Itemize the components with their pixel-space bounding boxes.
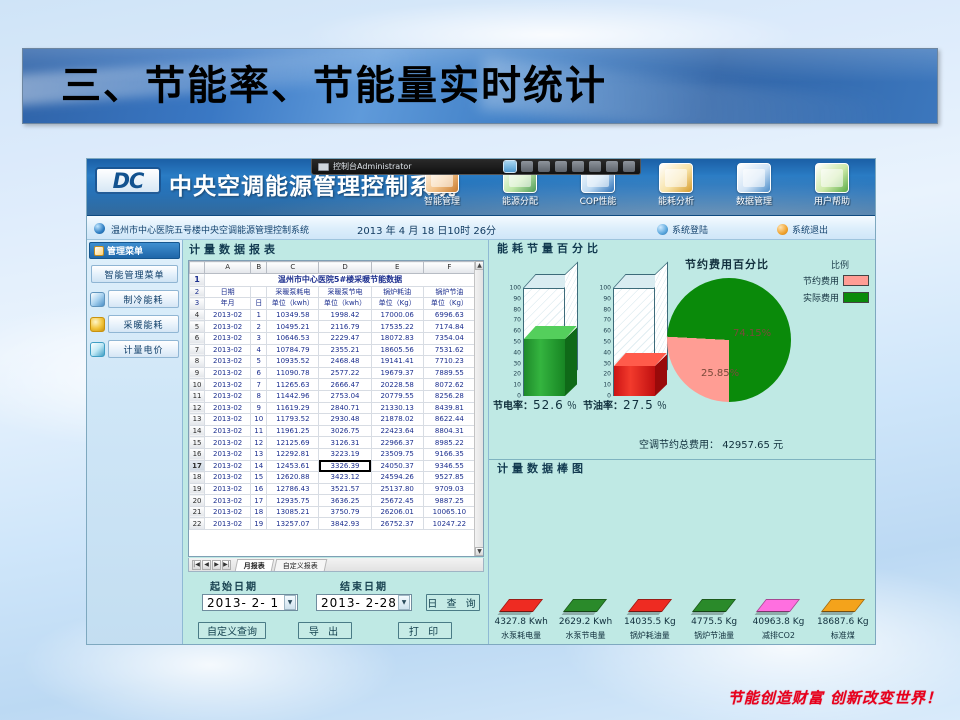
cell-day[interactable]: 4 [251,344,267,356]
axis-tick: 80 [513,306,521,313]
cell-boiler-saving[interactable]: 8985.22 [423,437,475,449]
charts-pane: 能耗节量百分比 1009080706050403020100 节电率：52.6 … [489,240,875,645]
axis-tick: 40 [513,349,521,356]
cell-pump-saving[interactable]: 2753.04 [319,390,371,402]
bar-value: 40963.8 Kg [746,617,810,627]
row-number[interactable]: 19 [190,483,205,495]
bar-value: 4327.8 Kwh [489,617,553,627]
cell-boiler-usage[interactable]: 20779.55 [371,390,423,402]
export-button[interactable]: 导 出 [298,622,352,639]
oil-saving-gauge: 1009080706050403020100 节油率：27.5 ％ [589,270,675,410]
table-row[interactable]: 122013-02911619.292840.7121330.138439.81 [190,402,476,414]
row-number[interactable]: 22 [190,518,205,530]
pie-chart-title: 节约费用百分比 [685,256,769,272]
row-number[interactable]: 18 [190,472,205,484]
cell-boiler-usage[interactable]: 22966.37 [371,437,423,449]
table-row[interactable]: 62013-02310646.532229.4718072.837354.04 [190,332,476,344]
cell-boiler-usage[interactable]: 19679.37 [371,367,423,379]
cell-boiler-saving[interactable]: 7354.04 [423,332,475,344]
move-icon[interactable] [572,161,584,172]
toolbar-label: 用户帮助 [814,197,850,207]
sidebar: 管理菜单 智能管理菜单 制冷能耗 采暖能耗 计量电价 [87,240,183,645]
cell-boiler-saving[interactable]: 7531.62 [423,344,475,356]
cell-pump-usage[interactable]: 11442.96 [267,390,319,402]
cell-pump-usage[interactable]: 12453.61 [267,460,319,472]
energy-panel-title: 能耗节量百分比 [489,240,875,256]
table-row[interactable]: 172013-021412453.613326.3924050.379346.5… [190,460,476,472]
cell-date[interactable]: 2013-02 [205,460,251,472]
cell-day[interactable]: 11 [251,425,267,437]
pointer-icon[interactable] [555,161,567,172]
cell-pump-usage[interactable]: 11961.25 [267,425,319,437]
console-icon-group[interactable] [504,161,640,172]
cell-day[interactable]: 17 [251,495,267,507]
end-date-label: 结束日期 [340,578,388,593]
table-row[interactable]: 92013-02611090.782577.2219679.377889.55 [190,367,476,379]
header-unit-kg-1: 单位（Kg） [371,298,423,310]
custom-query-button[interactable]: 自定义查询 [198,622,266,639]
total-savings-label: 空调节约总费用： [639,440,719,451]
cell-day[interactable]: 6 [251,367,267,379]
header-row-1: 2 日期 采暖泵耗电 采暖泵节电 锅炉耗油 锅炉节油 [190,286,476,298]
cell-boiler-saving[interactable]: 6996.63 [423,309,475,321]
row-number[interactable]: 16 [190,448,205,460]
cell-pump-saving[interactable]: 3842.93 [319,518,371,530]
table-row[interactable]: 52013-02210495.212116.7917535.227174.84 [190,321,476,333]
table-row[interactable]: 102013-02711265.632666.4720228.588072.62 [190,379,476,391]
cell-pump-saving[interactable]: 2468.48 [319,356,371,368]
cell-boiler-saving[interactable]: 7174.84 [423,321,475,333]
gauge-axis: 1009080706050403020100 [589,276,611,396]
sheet-corner[interactable] [190,262,205,274]
cell-boiler-usage[interactable]: 18072.83 [371,332,423,344]
cell-date[interactable]: 2013-02 [205,332,251,344]
cell-date[interactable]: 2013-02 [205,309,251,321]
sidebar-item-metering-price[interactable]: 计量电价 [108,340,179,358]
cell-day[interactable]: 2 [251,321,267,333]
cell-pump-saving[interactable]: 2116.79 [319,321,371,333]
prev-sheet-icon[interactable]: ◀ [202,560,211,570]
end-date-value: 2013- 2-28 [317,596,398,610]
cell-boiler-usage[interactable]: 22423.64 [371,425,423,437]
header-pump-saving: 采暖泵节电 [319,286,371,298]
axis-tick: 20 [513,371,521,378]
monitor-icon[interactable] [504,161,516,172]
sheet-nav-arrows[interactable]: |◀ ◀ ▶ ▶| [189,560,234,570]
table-row[interactable]: 202013-021712935.753636.2525672.459887.2… [190,495,476,507]
sidebar-header: 管理菜单 [89,242,180,259]
row-number[interactable]: 2 [190,286,205,298]
gauge-value: 27.5 [623,398,654,412]
folder-globe-icon [737,163,771,193]
cell-date[interactable]: 2013-02 [205,506,251,518]
cell-pump-saving[interactable]: 3521.57 [319,483,371,495]
sheet-title-row: 1 温州市中心医院5#楼采暖节能数据 [190,273,476,286]
system-login-link[interactable]: 系统登陆 [657,223,708,236]
table-row[interactable]: 82013-02510935.522468.4819141.417710.23 [190,356,476,368]
sidebar-row-cooling[interactable]: 制冷能耗 [90,290,179,308]
bar-slab [563,599,607,612]
page-title: 三、节能率、节能量实时统计 [23,49,937,123]
bar-item: 40963.8 Kg减排CO2 [746,599,810,641]
pie-slice-label-saving: 25.85% [701,368,739,379]
cell-pump-usage[interactable]: 11793.52 [267,414,319,426]
monitor-icon [318,163,329,171]
cell-date[interactable]: 2013-02 [205,402,251,414]
cell-pump-saving[interactable]: 3326.39 [319,460,371,472]
cell-date[interactable]: 2013-02 [205,344,251,356]
cell-pump-saving[interactable]: 3223.19 [319,448,371,460]
bar-slab [499,599,543,612]
cell-day[interactable]: 3 [251,332,267,344]
header-date: 日期 [205,286,251,298]
cell-day[interactable]: 15 [251,472,267,484]
cell-pump-usage[interactable]: 11619.29 [267,402,319,414]
cell-day[interactable]: 1 [251,309,267,321]
sheet-tab-monthly[interactable]: 月报表 [235,559,275,571]
cell-boiler-usage[interactable]: 23509.75 [371,448,423,460]
bar-item: 4327.8 Kwh水泵耗电量 [489,599,553,641]
cell-date[interactable]: 2013-02 [205,390,251,402]
cell-pump-usage[interactable]: 13085.21 [267,506,319,518]
cell-day[interactable]: 8 [251,390,267,402]
footer-slogan: 节能创造财富 创新改变世界！ [728,687,942,708]
sheet-tab-strip[interactable]: |◀ ◀ ▶ ▶| 月报表 自定义报表 [188,558,484,572]
toolbar-item-user-help[interactable]: 用户帮助 [793,161,871,207]
row-number[interactable]: 12 [190,402,205,414]
row-number[interactable]: 21 [190,506,205,518]
toolbar-item-data-management[interactable]: 数据管理 [715,161,793,207]
row-number[interactable]: 9 [190,367,205,379]
row-number[interactable]: 11 [190,390,205,402]
cell-boiler-usage[interactable]: 26206.01 [371,506,423,518]
status-bar: 温州市中心医院五号楼中央空调能源管理控制系统 2013 年 4 月 18 日10… [87,216,875,240]
cell-pump-saving[interactable]: 3636.25 [319,495,371,507]
console-title: 控制台Administrator [333,161,412,172]
cell-boiler-saving[interactable]: 8622.44 [423,414,475,426]
bar-panel-title: 计量数据棒图 [489,460,875,476]
end-date-input[interactable]: 2013- 2-28 ▼ [316,594,412,611]
cell-boiler-saving[interactable]: 9346.55 [423,460,475,472]
axis-tick: 80 [603,306,611,313]
cell-date[interactable]: 2013-02 [205,495,251,507]
toolbar-label: COP性能 [580,197,617,207]
cell-boiler-usage[interactable]: 17000.06 [371,309,423,321]
scroll-up-icon[interactable]: ▲ [475,261,484,270]
cell-pump-usage[interactable]: 12935.75 [267,495,319,507]
cell-pump-saving[interactable]: 1998.42 [319,309,371,321]
savings-pie-chart [667,278,791,402]
cell-pump-usage[interactable]: 10646.53 [267,332,319,344]
cell-day[interactable]: 18 [251,506,267,518]
cell-boiler-saving[interactable]: 9527.85 [423,472,475,484]
metering-bar-panel: 计量数据棒图 4327.8 Kwh水泵耗电量2629.2 Kwh水泵节电量140… [489,460,875,645]
cell-boiler-usage[interactable]: 18605.56 [371,344,423,356]
header-unit-kwh-1: 单位（kwh） [267,298,319,310]
day-query-button[interactable]: 日 查 询 [426,594,480,611]
sidebar-row-heating[interactable]: 采暖能耗 [90,315,179,333]
total-savings-unit: 元 [773,440,783,451]
chevron-down-icon[interactable]: ▼ [398,595,410,610]
cell-day[interactable]: 5 [251,356,267,368]
chevron-down-icon[interactable]: ▼ [284,595,296,610]
cell-boiler-saving[interactable]: 9887.25 [423,495,475,507]
axis-tick: 60 [603,328,611,335]
row-number[interactable]: 13 [190,414,205,426]
start-date-input[interactable]: 2013- 2- 1 ▼ [202,594,298,611]
row-number[interactable]: 15 [190,437,205,449]
cell-date[interactable]: 2013-02 [205,425,251,437]
bar-item: 4775.5 Kg锅炉节油量 [682,599,746,641]
cell-pump-usage[interactable]: 11090.78 [267,367,319,379]
bar-item-list: 4327.8 Kwh水泵耗电量2629.2 Kwh水泵节电量14035.5 Kg… [489,599,875,641]
legend-swatch [843,275,869,286]
bar-value: 4775.5 Kg [682,617,746,627]
remote-console-toolbar[interactable]: 控制台Administrator [311,159,641,175]
row-number[interactable]: 3 [190,298,205,310]
axis-tick: 90 [603,295,611,302]
row-number[interactable]: 1 [190,273,205,286]
first-sheet-icon[interactable]: |◀ [192,560,201,570]
cell-pump-saving[interactable]: 2577.22 [319,367,371,379]
cell-boiler-saving[interactable]: 9166.35 [423,448,475,460]
col-letter-f[interactable]: F [423,262,475,274]
book-icon [659,163,693,193]
total-savings-value: 42957.65 [722,440,770,451]
axis-tick: 100 [510,285,521,292]
gauge-axis: 1009080706050403020100 [499,276,521,396]
cell-boiler-saving[interactable]: 7710.23 [423,356,475,368]
cell-date[interactable]: 2013-02 [205,321,251,333]
header-unit-kg-2: 单位（Kg） [423,298,475,310]
table-row[interactable]: 72013-02410784.792355.2118605.567531.62 [190,344,476,356]
cell-pump-usage[interactable]: 12786.43 [267,483,319,495]
app-logo: DC [95,167,161,194]
cell-boiler-usage[interactable]: 21330.13 [371,402,423,414]
table-row[interactable]: 42013-02110349.581998.4217000.066996.63 [190,309,476,321]
axis-tick: 70 [603,317,611,324]
toolbar-label: 智能管理 [424,197,460,207]
table-row[interactable]: 162013-021312292.813223.1923509.759166.3… [190,448,476,460]
sidebar-row-price[interactable]: 计量电价 [90,340,179,358]
legend-item-saving: 节约费用 [803,274,869,287]
cell-pump-saving[interactable]: 3750.79 [319,506,371,518]
cell-day[interactable]: 19 [251,518,267,530]
bar-value: 18687.6 Kg [811,617,875,627]
axis-tick: 50 [513,339,521,346]
cell-boiler-usage[interactable]: 20228.58 [371,379,423,391]
hand-icon[interactable] [589,161,601,172]
toolbar-label: 数据管理 [736,197,772,207]
report-table: A B C D E F 1 温州市中心医院5#楼采暖节能数据 [189,261,476,530]
cell-pump-usage[interactable]: 10935.52 [267,356,319,368]
cell-day[interactable]: 13 [251,448,267,460]
gauge-unit: ％ [567,401,577,412]
col-letter-e[interactable]: E [371,262,423,274]
bar-slab [756,599,800,612]
cell-day[interactable]: 14 [251,460,267,472]
gauge-fill [614,366,655,396]
cooling-icon [90,292,105,307]
system-logout-link[interactable]: 系统退出 [777,223,828,236]
cell-pump-saving[interactable]: 3423.12 [319,472,371,484]
cell-pump-saving[interactable]: 3026.75 [319,425,371,437]
cell-boiler-saving[interactable]: 9709.03 [423,483,475,495]
cell-date[interactable]: 2013-02 [205,448,251,460]
cell-boiler-usage[interactable]: 26752.37 [371,518,423,530]
table-row[interactable]: 142013-021111961.253026.7522423.648804.3… [190,425,476,437]
cell-date[interactable]: 2013-02 [205,472,251,484]
header-boiler-saving: 锅炉节油 [423,286,475,298]
axis-tick: 50 [603,339,611,346]
cell-day[interactable]: 16 [251,483,267,495]
table-row[interactable]: 192013-021612786.433521.5725137.809709.0… [190,483,476,495]
axis-tick: 40 [603,349,611,356]
cell-date[interactable]: 2013-02 [205,437,251,449]
cell-boiler-saving[interactable]: 8256.28 [423,390,475,402]
cell-pump-usage[interactable]: 12620.88 [267,472,319,484]
cell-pump-saving[interactable]: 2930.48 [319,414,371,426]
cell-pump-saving[interactable]: 3126.31 [319,437,371,449]
cell-pump-saving[interactable]: 2355.21 [319,344,371,356]
logout-icon [777,224,788,235]
col-letter-d[interactable]: D [319,262,371,274]
bar-item: 14035.5 Kg锅炉耗油量 [618,599,682,641]
col-letter-b[interactable]: B [251,262,267,274]
gauge-caption: 节油率：27.5 ％ [583,397,693,412]
next-sheet-icon[interactable]: ▶ [212,560,221,570]
cell-pump-usage[interactable]: 10784.79 [267,344,319,356]
speaker-icon[interactable] [623,161,635,172]
cell-pump-usage[interactable]: 10349.58 [267,309,319,321]
last-sheet-icon[interactable]: ▶| [222,560,231,570]
cell-boiler-saving[interactable]: 8072.62 [423,379,475,391]
sheet-tab-label: 月报表 [244,560,265,572]
bar-label: 标准煤 [811,630,875,641]
table-row[interactable]: 212013-021813085.213750.7926206.0110065.… [190,506,476,518]
row-number[interactable]: 14 [190,425,205,437]
spreadsheet-frame[interactable]: A B C D E F 1 温州市中心医院5#楼采暖节能数据 [188,260,484,557]
cell-date[interactable]: 2013-02 [205,367,251,379]
price-icon [90,342,105,357]
row-number[interactable]: 20 [190,495,205,507]
row-number[interactable]: 4 [190,309,205,321]
table-row[interactable]: 222013-021913257.073842.9326752.3710247.… [190,518,476,530]
row-number[interactable]: 6 [190,332,205,344]
cell-boiler-saving[interactable]: 10247.22 [423,518,475,530]
toolbar-label: 能源分配 [502,197,538,207]
col-letter-a[interactable]: A [205,262,251,274]
cell-day[interactable]: 10 [251,414,267,426]
sheet-tab-custom[interactable]: 自定义报表 [274,559,328,571]
bar-label: 水泵耗电量 [489,630,553,641]
cell-pump-usage[interactable]: 12292.81 [267,448,319,460]
cell-pump-usage[interactable]: 13257.07 [267,518,319,530]
cell-boiler-saving[interactable]: 7889.55 [423,367,475,379]
row-number[interactable]: 10 [190,379,205,391]
cell-day[interactable]: 12 [251,437,267,449]
table-data-rows: 42013-02110349.581998.4217000.066996.635… [190,309,476,529]
cell-pump-usage[interactable]: 10495.21 [267,321,319,333]
sidebar-header-label: 管理菜单 [107,244,143,257]
keyboard-icon[interactable] [606,161,618,172]
row-number[interactable]: 17 [190,460,205,472]
cell-date[interactable]: 2013-02 [205,414,251,426]
cell-pump-saving[interactable]: 2840.71 [319,402,371,414]
cell-date[interactable]: 2013-02 [205,483,251,495]
axis-tick: 30 [603,360,611,367]
sheet-tab-label: 自定义报表 [283,560,318,572]
bar-item: 2629.2 Kwh水泵节电量 [553,599,617,641]
mouse-icon[interactable] [521,161,533,172]
gauge-fill-front [524,339,565,396]
system-datetime: 2013 年 4 月 18 日10时 26分 [357,222,496,237]
table-row[interactable]: 112013-02811442.962753.0420779.558256.28 [190,390,476,402]
row-number[interactable]: 7 [190,344,205,356]
row-number[interactable]: 5 [190,321,205,333]
site-name: 温州市中心医院五号楼中央空调能源管理控制系统 [111,223,309,236]
cell-pump-saving[interactable]: 2666.47 [319,379,371,391]
user-icon [815,163,849,193]
axis-tick: 100 [600,285,611,292]
gauge-unit: ％ [657,401,667,412]
login-icon [657,224,668,235]
cell-pump-saving[interactable]: 2229.47 [319,332,371,344]
cell-date[interactable]: 2013-02 [205,379,251,391]
cell-boiler-usage[interactable]: 21878.02 [371,414,423,426]
cell-boiler-usage[interactable]: 25137.80 [371,483,423,495]
cell-pump-usage[interactable]: 11265.63 [267,379,319,391]
folder-icon[interactable] [538,161,550,172]
pie-legend-title: 比例 [831,258,849,271]
gauge-label: 节油率： [583,401,623,412]
cell-date[interactable]: 2013-02 [205,356,251,368]
sheet-scrollbar[interactable]: ▲ ▼ [474,261,483,556]
heating-icon [90,317,105,332]
sidebar-item-intelligent-menu[interactable]: 智能管理菜单 [91,265,178,283]
cell-boiler-usage[interactable]: 17535.22 [371,321,423,333]
toolbar-item-consumption-analysis[interactable]: 能耗分析 [637,161,715,207]
print-button[interactable]: 打 印 [398,622,452,639]
table-row[interactable]: 132013-021011793.522930.4821878.028622.4… [190,414,476,426]
cell-date[interactable]: 2013-02 [205,518,251,530]
table-row[interactable]: 152013-021212125.693126.3122966.378985.2… [190,437,476,449]
bar-label: 水泵节电量 [553,630,617,641]
gauge-fill-side [565,328,577,396]
gauge-label: 节电率： [493,401,533,412]
cell-boiler-saving[interactable]: 10065.10 [423,506,475,518]
sidebar-item-cooling-consumption[interactable]: 制冷能耗 [108,290,179,308]
legend-item-actual: 实际费用 [803,291,869,304]
cell-pump-usage[interactable]: 12125.69 [267,437,319,449]
bar-item: 18687.6 Kg标准煤 [811,599,875,641]
cell-boiler-saving[interactable]: 8804.31 [423,425,475,437]
cell-day[interactable]: 7 [251,379,267,391]
cell-boiler-usage[interactable]: 25672.45 [371,495,423,507]
col-letter-c[interactable]: C [267,262,319,274]
cell-boiler-usage[interactable]: 24594.26 [371,472,423,484]
cell-boiler-usage[interactable]: 19141.41 [371,356,423,368]
cell-boiler-saving[interactable]: 8439.81 [423,402,475,414]
table-row[interactable]: 182013-021512620.883423.1224594.269527.8… [190,472,476,484]
table-column-letters: A B C D E F [190,262,476,274]
scroll-down-icon[interactable]: ▼ [475,547,484,556]
pie-legend: 节约费用 实际费用 [803,274,869,308]
row-number[interactable]: 8 [190,356,205,368]
sidebar-item-heating-consumption[interactable]: 采暖能耗 [108,315,179,333]
cell-day[interactable]: 9 [251,402,267,414]
cell-boiler-usage[interactable]: 24050.37 [371,460,423,472]
